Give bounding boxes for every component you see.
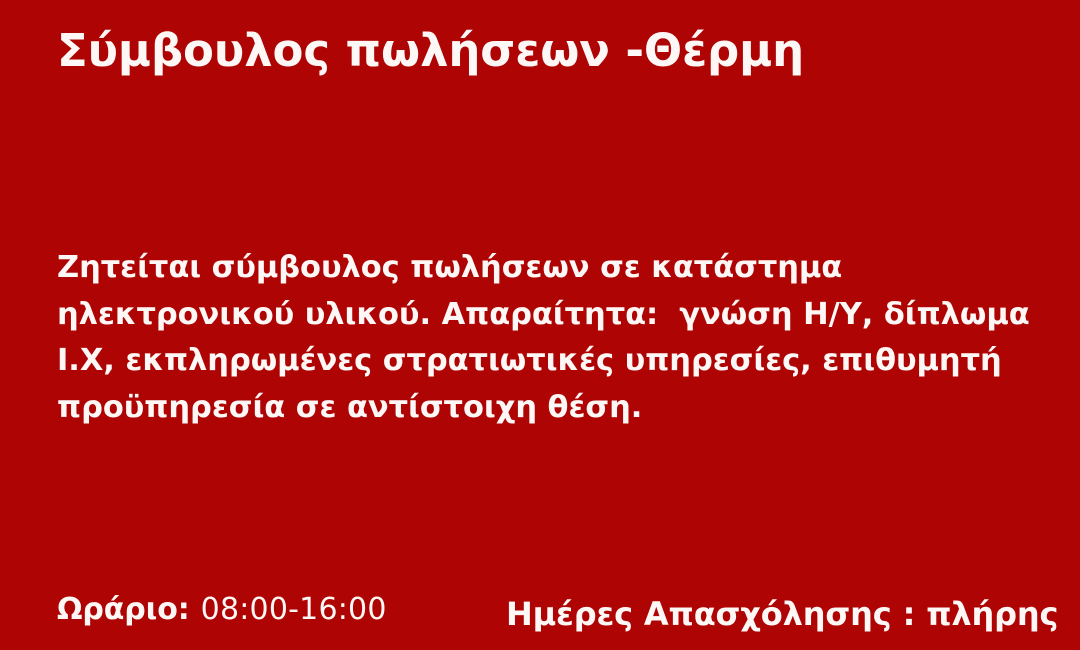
page-title: Σύμβουλος πωλήσεων -Θέρμη (57, 27, 804, 76)
description-line: ηλεκτρονικού υλικού. Απαραίτητα: γνώση Η… (57, 292, 1047, 339)
footer-details-row: Ωράριο:08:00-16:00 Ημέρες Απασχόλησης : … (0, 592, 1080, 650)
working-days-group: Ημέρες Απασχόλησης : πλήρης (506, 595, 1058, 633)
schedule-label: Ωράριο: (57, 592, 190, 627)
working-days-text: Ημέρες Απασχόλησης : πλήρης (506, 595, 1058, 633)
schedule-value: 08:00-16:00 (201, 592, 387, 627)
schedule-group: Ωράριο:08:00-16:00 (57, 592, 387, 627)
description-line: προϋπηρεσία σε αντίστοιχη θέση. (57, 385, 1047, 432)
job-description-block: Ζητείται σύμβουλος πωλήσεων σε κατάστημα… (57, 245, 1047, 431)
description-line: Ι.Χ, εκπληρωμένες στρατιωτικές υπηρεσίες… (57, 338, 1047, 385)
job-posting-poster: Σύμβουλος πωλήσεων -Θέρμη Ζητείται σύμβο… (0, 0, 1080, 650)
description-line: Ζητείται σύμβουλος πωλήσεων σε κατάστημα (57, 245, 1047, 292)
